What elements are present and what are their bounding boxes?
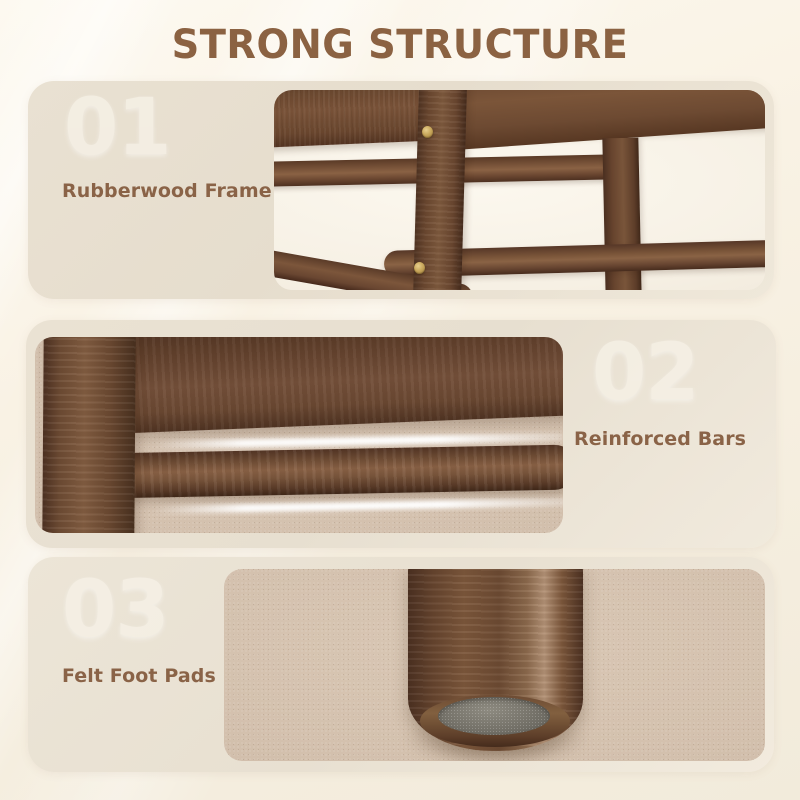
infographic-page: STRONG STRUCTURE 01 Rubberwood Frame — [0, 0, 800, 800]
feature-number-01: 01 — [64, 89, 278, 167]
feature-number-02: 02 — [592, 334, 776, 412]
feature-photo-felt-foot-pads — [224, 569, 765, 761]
wood-leg-front — [413, 90, 467, 290]
wood-leg-bottom-group — [408, 569, 583, 751]
brass-screw-icon — [414, 262, 425, 274]
wood-reinforced-bar — [97, 444, 563, 498]
feature-label-01: Rubberwood Frame — [62, 180, 278, 202]
photo-scene-reinforced-bar — [35, 337, 563, 533]
photo-scene-chair-frame — [274, 90, 765, 290]
page-title-wrap: STRONG STRUCTURE — [0, 22, 800, 69]
photo-scene-felt-pad — [224, 569, 765, 761]
felt-pad — [438, 697, 550, 735]
feature-text-panel-03: 03 Felt Foot Pads — [28, 557, 278, 772]
brass-screw-icon — [422, 126, 433, 138]
feature-number-03: 03 — [62, 571, 278, 649]
highlight-strip-lower — [153, 498, 563, 514]
feature-text-panel-02: 02 Reinforced Bars — [554, 320, 776, 548]
wood-leg-vertical — [42, 337, 135, 533]
feature-label-03: Felt Foot Pads — [62, 665, 278, 687]
feature-card-02: 02 Reinforced Bars — [26, 320, 776, 548]
feature-text-panel-01: 01 Rubberwood Frame — [28, 81, 278, 299]
feature-label-02: Reinforced Bars — [574, 428, 776, 450]
wood-seat-rail-slab — [129, 337, 563, 433]
feature-photo-reinforced-bars — [35, 337, 563, 533]
feature-photo-rubberwood-frame — [274, 90, 765, 290]
page-title: STRONG STRUCTURE — [16, 22, 784, 69]
feature-card-01: 01 Rubberwood Frame — [28, 81, 774, 299]
feature-card-03: 03 Felt Foot Pads — [28, 557, 774, 772]
